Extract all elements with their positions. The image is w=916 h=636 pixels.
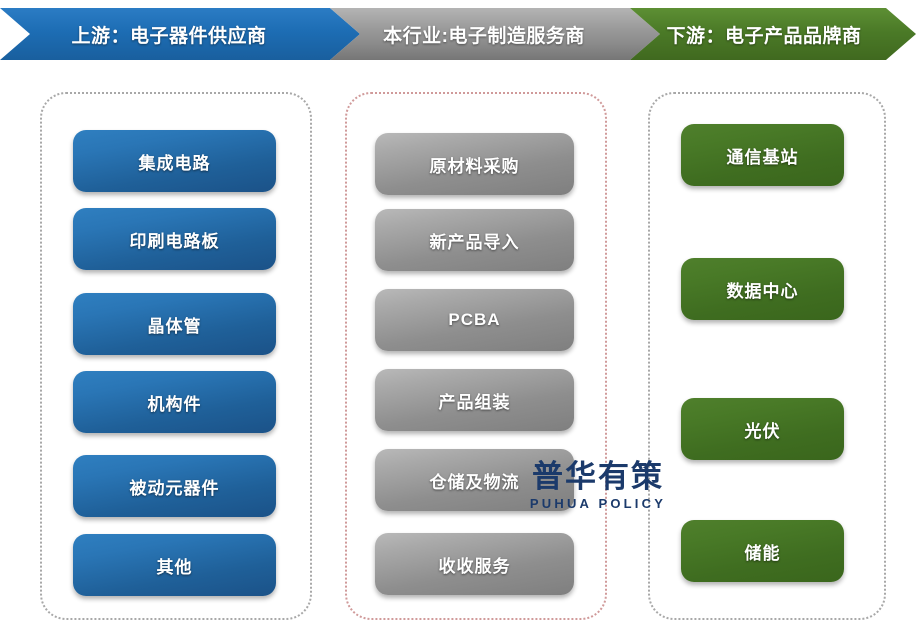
downstream-item[interactable]: 光伏 (681, 398, 844, 460)
upstream-item[interactable]: 其他 (73, 534, 276, 596)
header-segment-upstream[interactable]: 上游：电子器件供应商 (0, 8, 360, 60)
industry-item-label: 原材料采购 (430, 152, 520, 177)
upstream-item[interactable]: 印刷电路板 (73, 208, 276, 270)
upstream-item-label: 机构件 (148, 390, 202, 415)
industry-item[interactable]: 收收服务 (375, 533, 574, 595)
industry-item-label: 仓储及物流 (430, 468, 520, 493)
header-segment-industry[interactable]: 本行业:电子制造服务商 (330, 8, 660, 60)
header-segment-downstream[interactable]: 下游：电子产品品牌商 (630, 8, 916, 60)
downstream-item-label: 通信基站 (727, 143, 799, 168)
upstream-item[interactable]: 被动元器件 (73, 455, 276, 517)
industry-item[interactable]: PCBA (375, 289, 574, 351)
industry-item-label: 新产品导入 (430, 228, 520, 253)
value-chain-header: 上游：电子器件供应商 本行业:电子制造服务商 下游：电子产品品牌商 (0, 8, 916, 60)
header-segment-upstream-label: 上游：电子器件供应商 (71, 21, 266, 48)
upstream-item-label: 其他 (157, 553, 193, 578)
upstream-item-label: 被动元器件 (130, 474, 220, 499)
downstream-item[interactable]: 通信基站 (681, 124, 844, 186)
industry-item-label: 收收服务 (439, 552, 511, 577)
downstream-item-label: 光伏 (745, 417, 781, 442)
downstream-item-label: 储能 (745, 539, 781, 564)
upstream-item-label: 印刷电路板 (130, 227, 220, 252)
header-segment-downstream-label: 下游：电子产品品牌商 (666, 21, 861, 48)
industry-item[interactable]: 产品组装 (375, 369, 574, 431)
header-segment-industry-label: 本行业:电子制造服务商 (383, 21, 585, 48)
industry-item[interactable]: 仓储及物流 (375, 449, 574, 511)
upstream-item[interactable]: 机构件 (73, 371, 276, 433)
downstream-item[interactable]: 储能 (681, 520, 844, 582)
industry-item[interactable]: 原材料采购 (375, 133, 574, 195)
industry-chain-diagram: 上游：电子器件供应商 本行业:电子制造服务商 下游：电子产品品牌商 集成电路 印… (0, 0, 916, 636)
upstream-item-label: 集成电路 (139, 149, 211, 174)
downstream-item[interactable]: 数据中心 (681, 258, 844, 320)
downstream-item-label: 数据中心 (727, 277, 799, 302)
industry-item[interactable]: 新产品导入 (375, 209, 574, 271)
upstream-item[interactable]: 晶体管 (73, 293, 276, 355)
upstream-item[interactable]: 集成电路 (73, 130, 276, 192)
industry-item-label: PCBA (448, 310, 500, 330)
industry-item-label: 产品组装 (439, 388, 511, 413)
upstream-item-label: 晶体管 (148, 312, 202, 337)
